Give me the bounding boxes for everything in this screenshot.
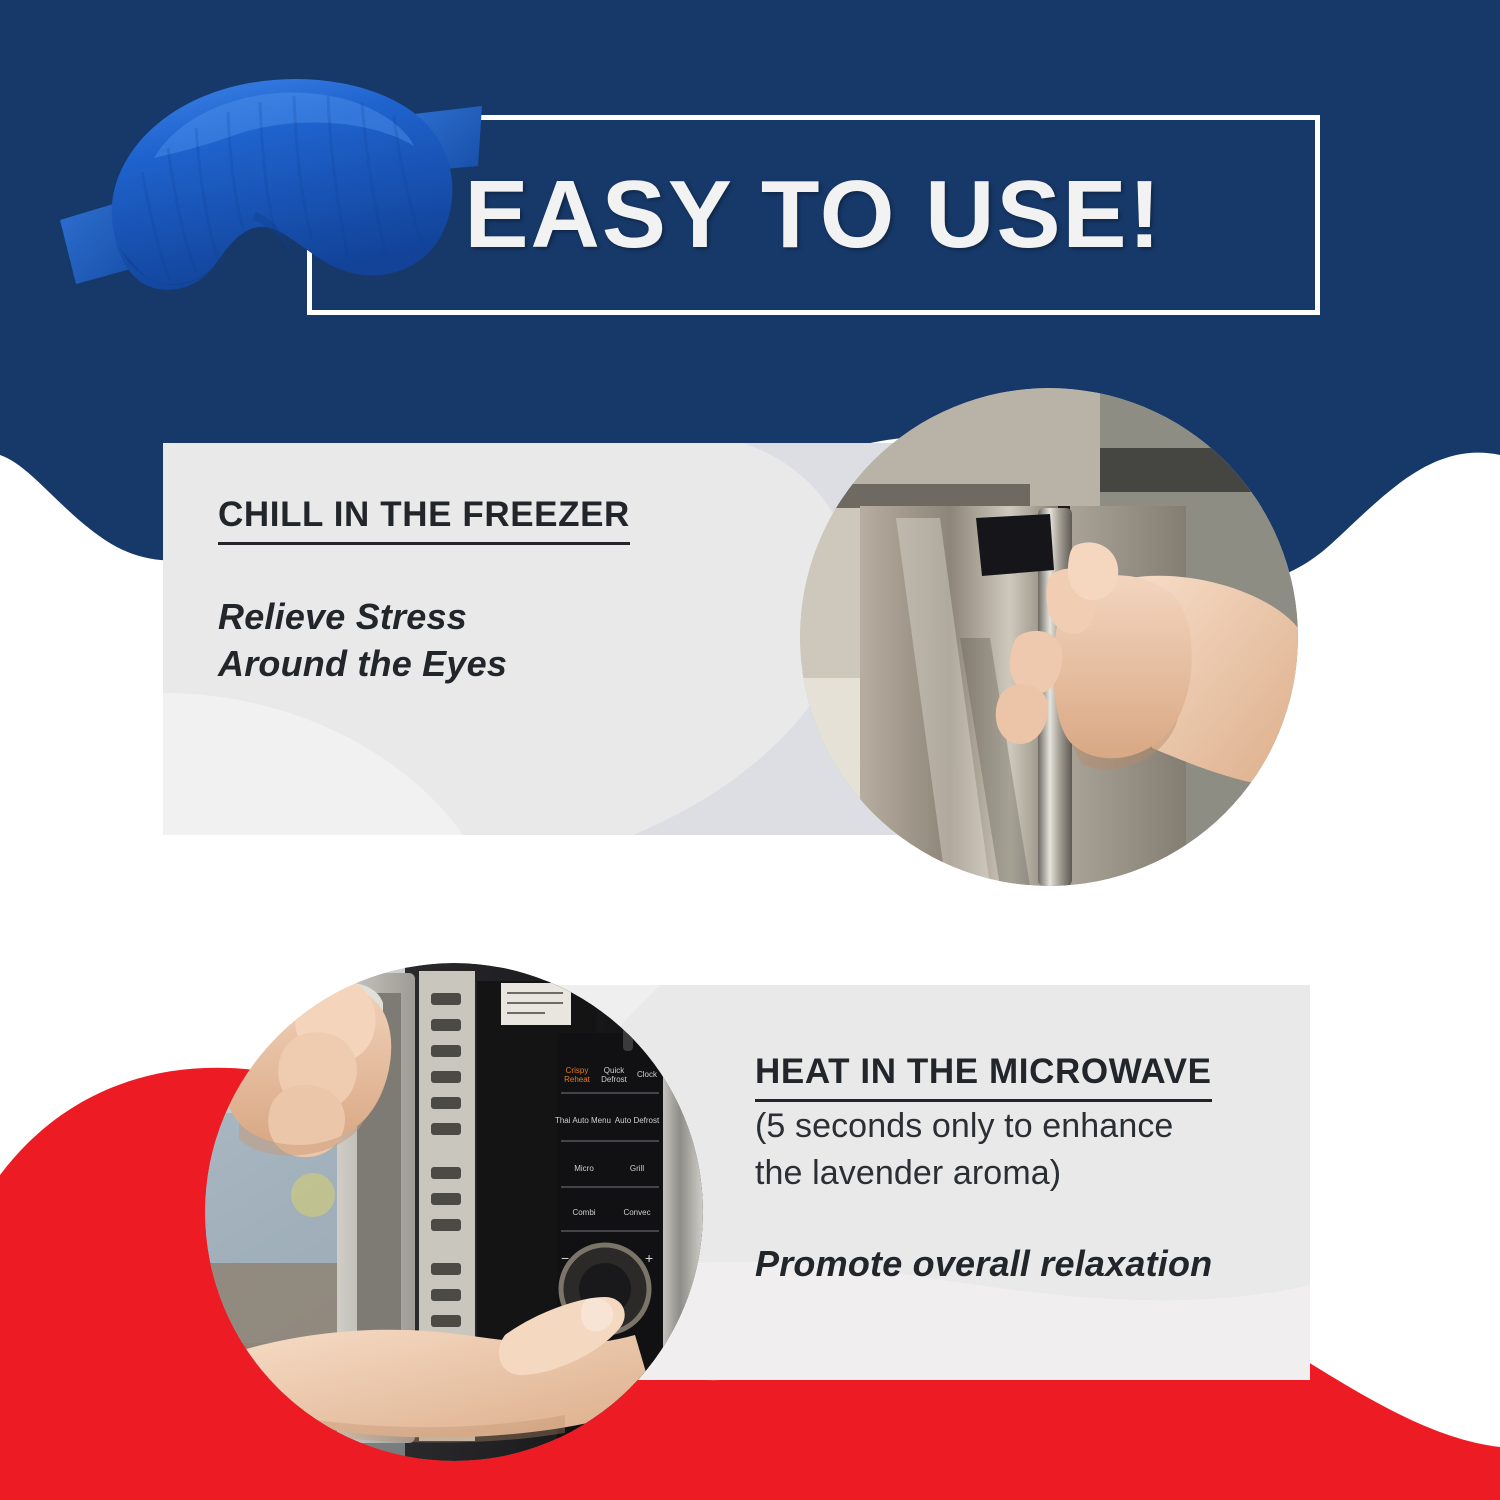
- heat-paren-line-2: the lavender aroma): [755, 1150, 1173, 1197]
- label-quick-defrost: Quick: [604, 1066, 625, 1075]
- refrigerator-illustration: [800, 388, 1298, 886]
- label-combi: Combi: [572, 1208, 595, 1217]
- chill-body: Relieve Stress Around the Eyes: [218, 593, 507, 687]
- window-bokeh: [291, 1173, 335, 1217]
- heat-body-line-1: Promote overall relaxation: [755, 1240, 1212, 1287]
- eye-mask-illustration: [42, 62, 502, 362]
- chill-title-wrap: CHILL IN THE FREEZER: [218, 495, 630, 545]
- heat-paren-line-1: (5 seconds only to enhance: [755, 1103, 1173, 1150]
- microwave-illustration: Crispy Reheat Quick Defrost Clock Thai A…: [205, 963, 703, 1461]
- chill-body-line-2: Around the Eyes: [218, 640, 507, 687]
- heat-body: Promote overall relaxation: [755, 1240, 1212, 1287]
- heat-title-wrap: HEAT IN THE MICROWAVE: [755, 1052, 1212, 1102]
- label-quick-defrost-2: Defrost: [601, 1075, 628, 1084]
- heat-paren-note: (5 seconds only to enhance the lavender …: [755, 1103, 1173, 1197]
- chill-body-line-1: Relieve Stress: [218, 593, 507, 640]
- label-crispy-reheat: Crispy: [566, 1066, 589, 1075]
- microwave-photo: Crispy Reheat Quick Defrost Clock Thai A…: [205, 963, 703, 1461]
- label-micro: Micro: [574, 1164, 594, 1173]
- refrigerator-photo: [800, 388, 1298, 886]
- eye-mask-product-photo: [42, 62, 502, 362]
- label-convec: Convec: [623, 1208, 650, 1217]
- fridge-handle-bracket: [976, 514, 1054, 576]
- label-clock: Clock: [637, 1070, 658, 1079]
- label-crispy-reheat-2: Reheat: [564, 1075, 591, 1084]
- infographic-canvas: CHILL IN THE FREEZER Relieve Stress Arou…: [0, 0, 1500, 1500]
- dial-plus: +: [645, 1250, 653, 1266]
- label-auto-defrost: Auto Defrost: [615, 1116, 660, 1125]
- dial-minus: −: [561, 1250, 569, 1266]
- heat-title: HEAT IN THE MICROWAVE: [755, 1052, 1212, 1102]
- label-grill: Grill: [630, 1164, 644, 1173]
- label-thai-auto-menu: Thai Auto Menu: [555, 1116, 611, 1125]
- chill-title: CHILL IN THE FREEZER: [218, 495, 630, 545]
